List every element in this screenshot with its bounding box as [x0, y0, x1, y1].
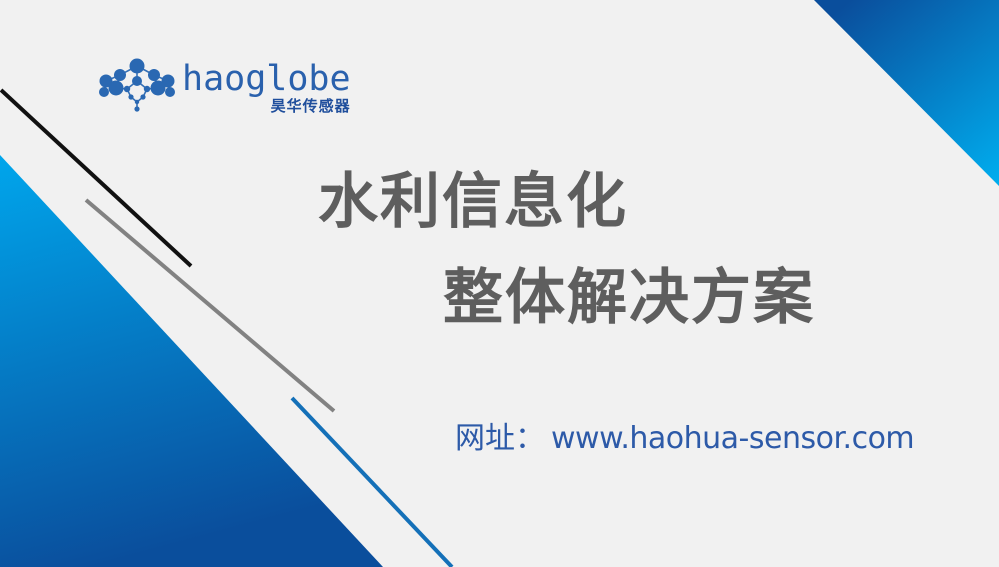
website-line: 网址： www.haohua-sensor.com	[455, 422, 914, 456]
website-label: 网址：	[455, 422, 545, 456]
logo-text-block: haoglobe 昊华传感器	[182, 62, 351, 115]
website-url[interactable]: www.haohua-sensor.com	[551, 422, 914, 456]
presentation-slide: haoglobe 昊华传感器 水利信息化 整体解决方案 网址： www.haoh…	[0, 0, 999, 567]
molecule-network-icon	[98, 58, 176, 114]
logo-chinese-name: 昊华传感器	[271, 97, 351, 115]
logo-wordmark: haoglobe	[182, 62, 351, 96]
company-logo: haoglobe 昊华传感器	[98, 58, 351, 115]
